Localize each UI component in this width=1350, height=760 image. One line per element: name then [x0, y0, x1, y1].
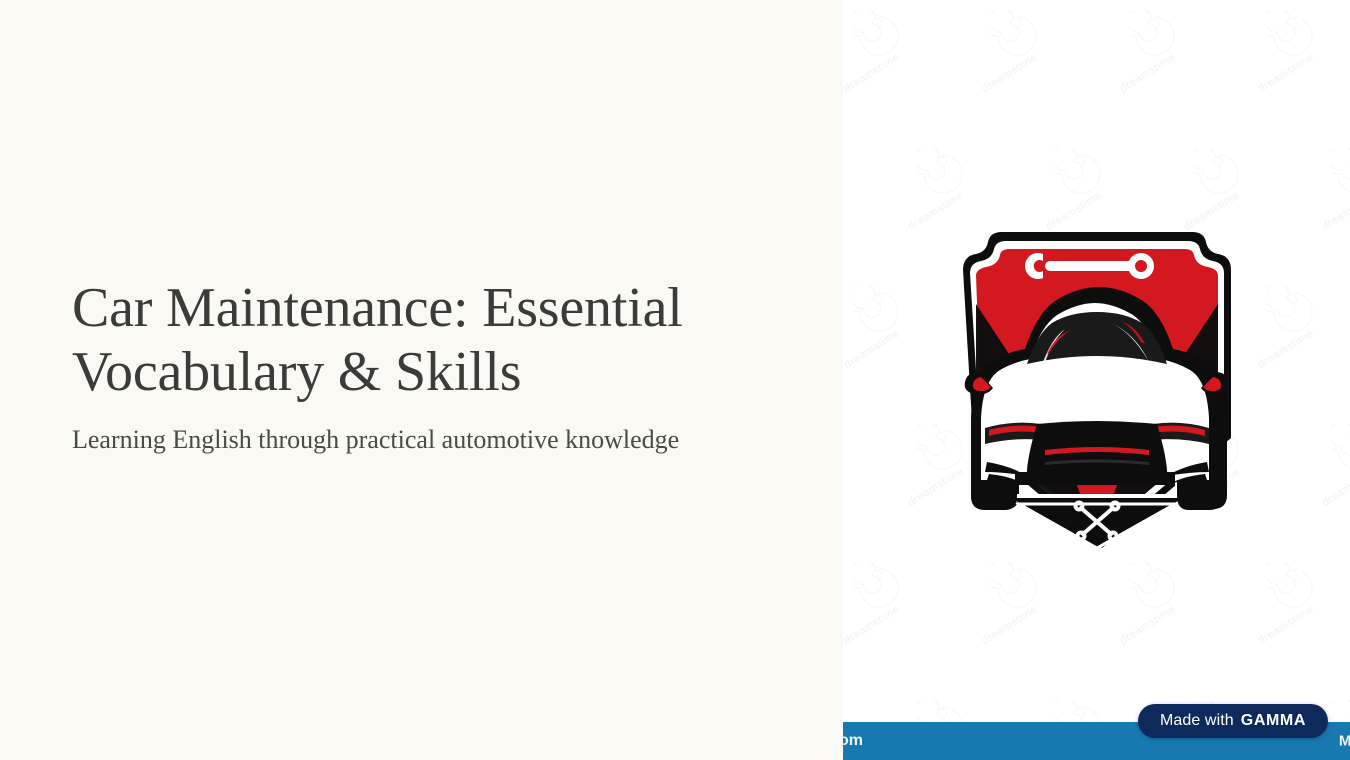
car-emblem-image	[945, 212, 1249, 554]
title-block: Car Maintenance: Essential Vocabulary & …	[72, 277, 783, 456]
gamma-badge-prefix: Made with	[1160, 712, 1234, 730]
gamma-brand-label: GAMMA	[1241, 712, 1306, 730]
source-url-text: om	[843, 732, 863, 750]
slide-text-panel: Car Maintenance: Essential Vocabulary & …	[0, 0, 843, 760]
presentation-slide: Car Maintenance: Essential Vocabulary & …	[0, 0, 1350, 760]
made-with-gamma-badge[interactable]: Made with GAMMA	[1138, 704, 1328, 738]
page-title: Car Maintenance: Essential Vocabulary & …	[72, 277, 752, 405]
slide-image-panel: dreamstimedreamstimedreamstimedreamstime…	[843, 0, 1350, 760]
source-author-text: Muha	[1339, 733, 1350, 750]
slide-subtitle: Learning English through practical autom…	[72, 423, 772, 457]
